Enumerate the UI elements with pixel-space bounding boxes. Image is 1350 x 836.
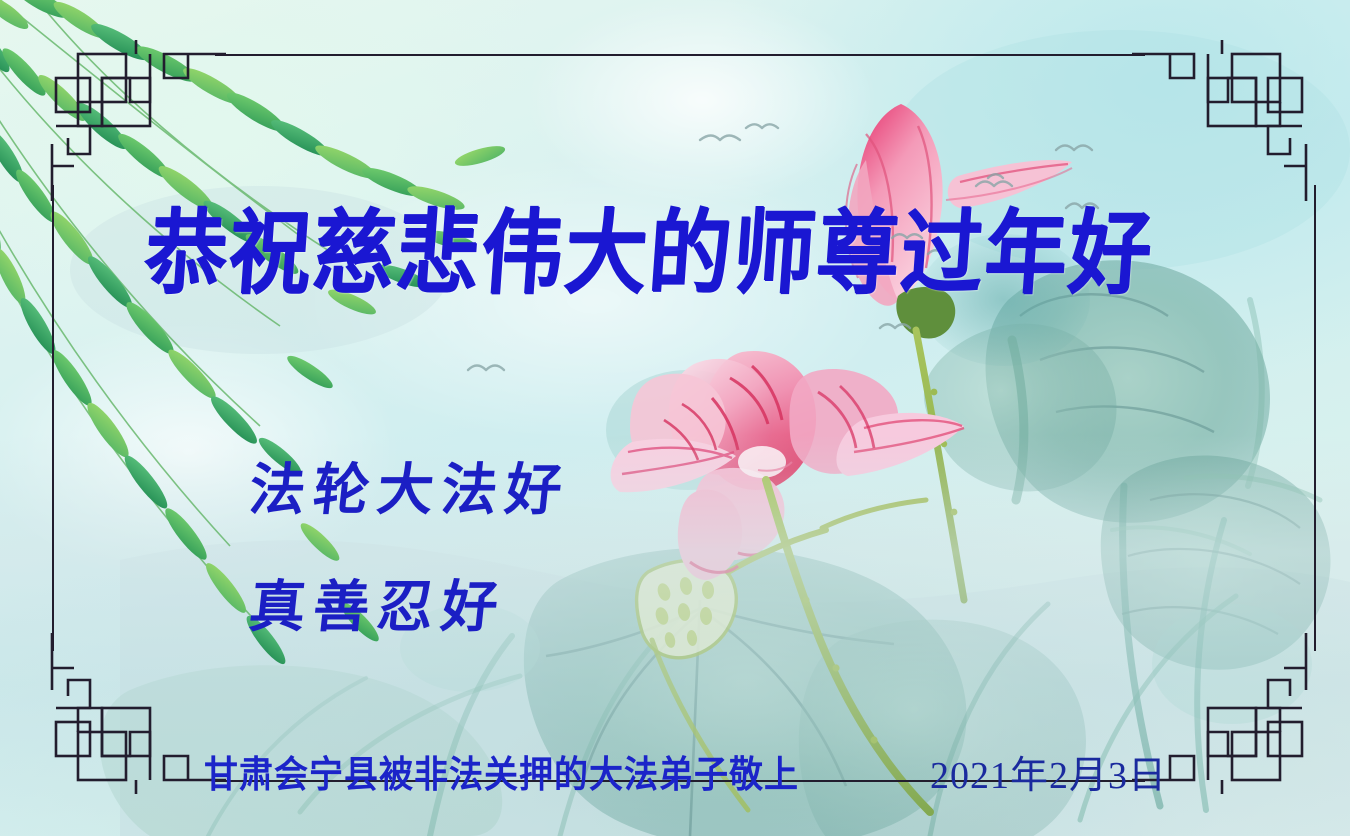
corner-ornament-top-right [1130,26,1320,201]
signature-text: 甘肃会宁县被非法关押的大法弟子敬上 [204,745,799,798]
corner-ornament-bottom-left [38,633,228,808]
frame-line-top [215,54,1145,56]
corner-ornament-top-left [38,26,228,201]
slogan-line-1: 法轮大法好 [246,445,575,526]
greeting-title: 恭祝慈悲伟大的师尊过年好 [141,178,1158,311]
slogan-line-2: 真善忍好 [246,562,511,643]
frame-line-right [1314,185,1316,651]
frame-line-left [52,185,54,651]
greeting-card: 恭祝慈悲伟大的师尊过年好 法轮大法好 真善忍好 甘肃会宁县被非法关押的大法弟子敬… [0,0,1350,836]
card-date: 2021年2月3日 [930,744,1167,799]
